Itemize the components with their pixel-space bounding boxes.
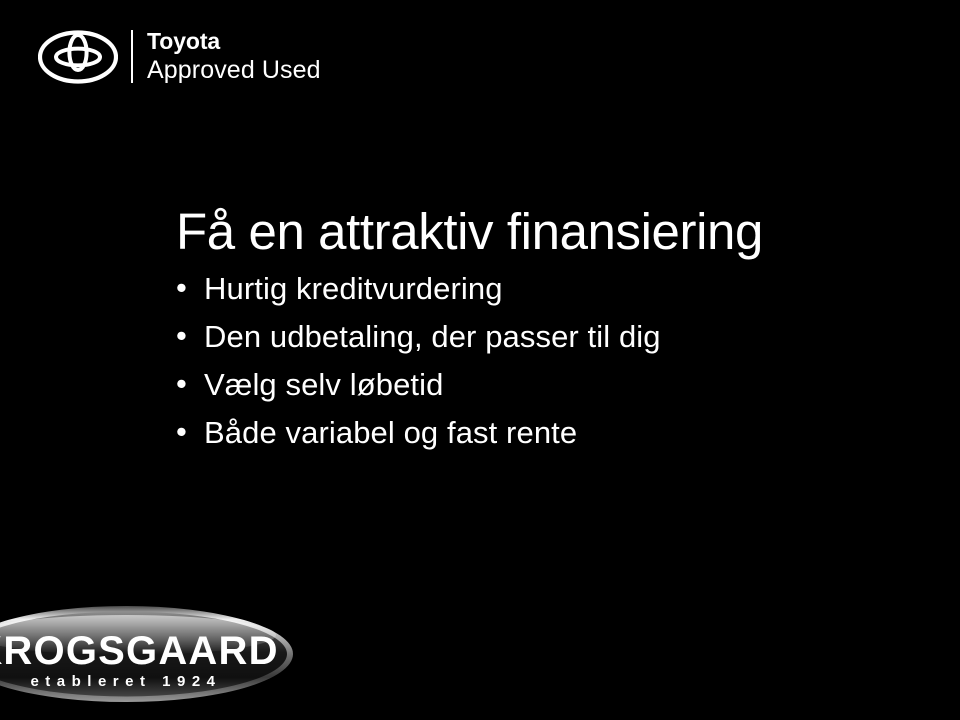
brand-name-toyota: Toyota [147, 30, 321, 53]
krogsgaard-dealer-logo: KROGSGAARD etableret 1924 [0, 604, 294, 704]
brand-wordmark: Toyota Approved Used [147, 29, 321, 86]
list-item-label: Hurtig kreditvurdering [204, 273, 876, 304]
slide-headline: Få en attraktiv finansiering [176, 204, 876, 259]
list-item-label: Vælg selv løbetid [204, 369, 876, 400]
bullet-point-icon: • [176, 320, 204, 351]
slide-content: Få en attraktiv finansiering • Hurtig kr… [176, 204, 876, 465]
list-item-label: Den udbetaling, der passer til dig [204, 321, 876, 352]
brand-subtitle-approved-used: Approved Used [147, 56, 321, 86]
bullet-point-icon: • [176, 272, 204, 303]
presentation-slide: Toyota Approved Used Få en attraktiv fin… [0, 0, 960, 720]
krogsgaard-tagline: etableret 1924 [30, 673, 221, 690]
bullet-point-icon: • [176, 416, 204, 447]
list-item: • Både variabel og fast rente [176, 417, 876, 465]
list-item: • Den udbetaling, der passer til dig [176, 321, 876, 369]
benefit-bullet-list: • Hurtig kreditvurdering • Den udbetalin… [176, 273, 876, 465]
list-item-label: Både variabel og fast rente [204, 417, 876, 448]
krogsgaard-wordmark: KROGSGAARD [0, 629, 279, 673]
krogsgaard-oval-badge-icon: KROGSGAARD etableret 1924 [0, 604, 294, 704]
bullet-point-icon: • [176, 368, 204, 399]
toyota-brand-lockup: Toyota Approved Used [38, 24, 321, 90]
toyota-emblem-icon [38, 30, 118, 84]
list-item: • Hurtig kreditvurdering [176, 273, 876, 321]
list-item: • Vælg selv løbetid [176, 369, 876, 417]
brand-divider-icon [131, 30, 133, 83]
